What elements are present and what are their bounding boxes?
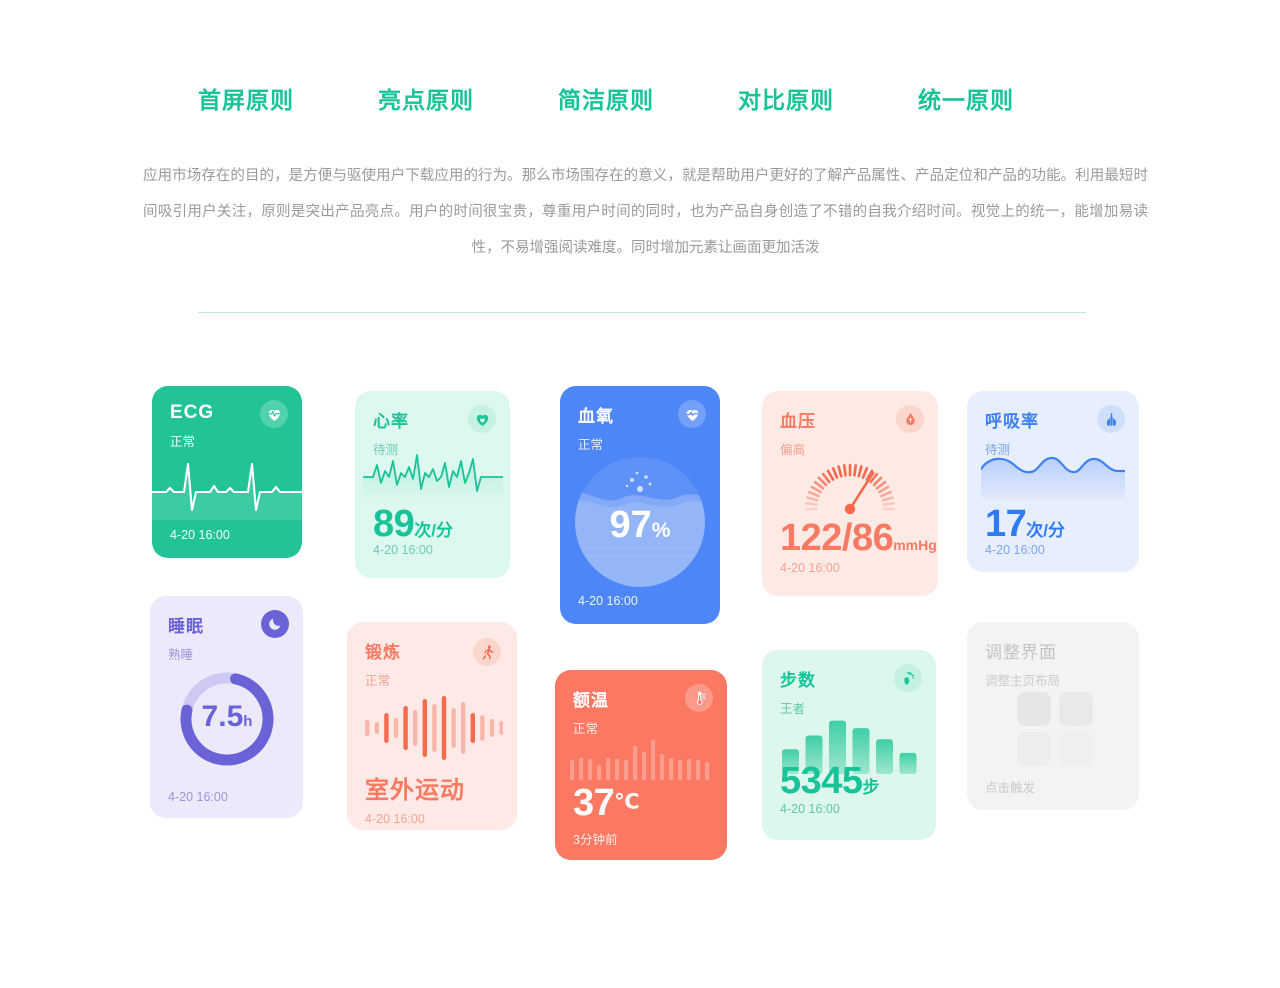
blood-drop-icon xyxy=(896,405,924,433)
running-icon xyxy=(473,638,501,666)
card-blood-pressure-timestamp: 4-20 16:00 xyxy=(780,561,840,575)
sleep-number: 7.5 xyxy=(202,700,244,733)
card-sleep[interactable]: 睡眠 熟睡 z 7.5h 4-20 16:00 xyxy=(150,596,303,818)
card-adjust-layout-title: 调整界面 xyxy=(985,638,1060,663)
temperature-bar-chart xyxy=(567,736,715,780)
card-respiratory-rate-value: 17次/分 xyxy=(985,503,1065,546)
exercise-bar-chart xyxy=(361,694,503,762)
card-temperature-value: 37℃ xyxy=(573,782,640,825)
heart-wave-icon xyxy=(678,400,706,428)
card-steps-header: 步数 王者 xyxy=(780,666,816,717)
respiratory-rate-unit: 次/分 xyxy=(1026,521,1065,540)
card-steps[interactable]: 步数 王者 xyxy=(762,650,936,840)
heart-icon xyxy=(468,405,496,433)
card-temperature-timestamp: 3分钟前 xyxy=(573,829,617,848)
sleep-unit: h xyxy=(243,713,252,730)
card-ecg-title: ECG xyxy=(170,402,214,424)
blood-pressure-gauge xyxy=(795,449,905,515)
card-blood-pressure-title: 血压 xyxy=(780,407,816,432)
moon-z-icon: z xyxy=(261,610,289,638)
card-respiratory-rate-title: 呼吸率 xyxy=(985,407,1039,432)
svg-text:z: z xyxy=(275,619,278,625)
grid-placeholder-icon xyxy=(1017,692,1093,766)
grid-cell xyxy=(1059,732,1093,766)
card-exercise-status: 正常 xyxy=(365,670,401,689)
card-respiratory-rate-timestamp: 4-20 16:00 xyxy=(985,543,1045,557)
card-adjust-layout[interactable]: 调整界面 调整主页布局 点击触发 xyxy=(967,622,1139,810)
card-heart-rate-title: 心率 xyxy=(373,407,409,432)
steps-unit: 步 xyxy=(863,778,880,797)
grid-cell xyxy=(1017,692,1051,726)
lungs-icon xyxy=(1097,405,1125,433)
card-blood-pressure[interactable]: 血压 偏高 122/86mmHg 4-20 16:00 xyxy=(762,391,938,596)
heart-rate-waveform-chart xyxy=(363,447,503,501)
card-ecg-timestamp: 4-20 16:00 xyxy=(170,528,230,542)
exercise-label: 室外运动 xyxy=(365,777,465,804)
blood-pressure-unit: mmHg xyxy=(893,537,937,553)
temperature-unit: ℃ xyxy=(614,791,639,814)
health-card-grid: ECG 正常 4-20 16:00 心率 待测 xyxy=(0,0,1280,988)
respiratory-rate-number: 17 xyxy=(985,503,1026,545)
card-ecg-status: 正常 xyxy=(170,431,214,450)
card-exercise-header: 锻炼 正常 xyxy=(365,638,401,689)
card-ecg[interactable]: ECG 正常 4-20 16:00 xyxy=(152,386,302,558)
blood-pressure-number: 122/86 xyxy=(780,517,893,559)
card-sleep-header: 睡眠 熟睡 xyxy=(168,612,204,663)
card-temperature-title: 额温 xyxy=(573,686,609,711)
heart-rate-number: 89 xyxy=(373,503,414,545)
card-steps-title: 步数 xyxy=(780,666,816,691)
card-blood-oxygen-status: 正常 xyxy=(578,434,614,453)
card-sleep-status: 熟睡 xyxy=(168,644,204,663)
card-adjust-layout-header: 调整界面 调整主页布局 xyxy=(985,638,1060,689)
steps-number: 5345 xyxy=(780,760,863,802)
card-blood-oxygen[interactable]: 血氧 正常 xyxy=(560,386,720,624)
card-heart-rate-value: 89次/分 xyxy=(373,503,453,546)
card-exercise[interactable]: 锻炼 正常 室外运动 4-20 16:00 xyxy=(347,622,517,830)
card-sleep-value: 7.5h xyxy=(176,700,278,734)
card-exercise-title: 锻炼 xyxy=(365,638,401,663)
grid-cell xyxy=(1017,732,1051,766)
card-heart-rate-timestamp: 4-20 16:00 xyxy=(373,543,433,557)
ecg-waveform-chart xyxy=(152,458,302,520)
footprints-icon xyxy=(894,664,922,692)
card-temperature-header: 额温 正常 xyxy=(573,686,609,737)
card-respiratory-rate[interactable]: 呼吸率 待测 xyxy=(967,391,1139,572)
card-exercise-timestamp: 4-20 16:00 xyxy=(365,812,425,826)
card-adjust-layout-hint: 点击触发 xyxy=(985,777,1035,796)
card-steps-value: 5345步 xyxy=(780,760,880,803)
thermometer-icon xyxy=(685,684,713,712)
card-sleep-title: 睡眠 xyxy=(168,612,204,637)
card-exercise-value: 室外运动 xyxy=(365,770,465,805)
temperature-number: 37 xyxy=(573,782,614,824)
blood-oxygen-number: 97 xyxy=(610,504,652,546)
respiratory-waveform-chart xyxy=(981,453,1125,499)
card-temperature[interactable]: 额温 正常 37℃ xyxy=(555,670,727,860)
card-temperature-status: 正常 xyxy=(573,718,609,737)
card-blood-oxygen-header: 血氧 正常 xyxy=(578,402,614,453)
card-blood-oxygen-timestamp: 4-20 16:00 xyxy=(578,594,638,608)
blood-oxygen-unit: % xyxy=(652,519,671,542)
card-respiratory-rate-header: 呼吸率 待测 xyxy=(985,407,1039,458)
card-heart-rate[interactable]: 心率 待测 xyxy=(355,391,510,578)
card-ecg-header: ECG 正常 xyxy=(170,402,214,450)
grid-cell xyxy=(1059,692,1093,726)
card-sleep-timestamp: 4-20 16:00 xyxy=(168,790,228,804)
card-steps-timestamp: 4-20 16:00 xyxy=(780,802,840,816)
card-blood-pressure-value: 122/86mmHg xyxy=(780,517,937,560)
card-blood-oxygen-title: 血氧 xyxy=(578,402,614,427)
page-root: 首屏原则 亮点原则 简洁原则 对比原则 统一原则 应用市场存在的目的，是方便与驱… xyxy=(0,0,1280,988)
card-adjust-layout-status: 调整主页布局 xyxy=(985,670,1060,689)
card-blood-oxygen-value: 97% xyxy=(560,504,720,547)
heart-rate-unit: 次/分 xyxy=(414,521,453,540)
heart-pulse-icon xyxy=(260,400,288,428)
